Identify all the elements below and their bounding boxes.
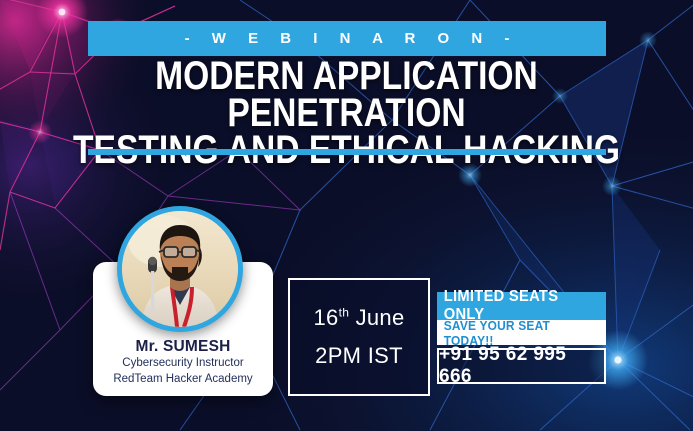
speaker-role: Cybersecurity Instructor xyxy=(93,357,273,369)
save-seat-text: SAVE YOUR SEAT TODAY!! xyxy=(444,318,599,348)
avatar xyxy=(122,211,238,327)
speaker-name: Mr. SUMESH xyxy=(93,338,273,356)
event-day: 16 xyxy=(313,305,338,330)
speaker-photo-ring xyxy=(117,206,243,332)
contact-phone-number: +91 95 62 995 666 xyxy=(439,344,604,388)
event-month: June xyxy=(356,305,405,330)
event-date-box: 16th June 2PM IST xyxy=(288,278,430,396)
webinar-kicker-bar: - W E B I N A R O N - xyxy=(88,21,606,56)
event-day-suffix: th xyxy=(339,306,350,320)
limited-seats-banner: LIMITED SEATS ONLY xyxy=(437,292,606,320)
title-line-1: MODERN APPLICATION PENETRATION xyxy=(55,58,637,132)
speaker-portrait-illustration xyxy=(122,211,238,327)
event-date: 16th June xyxy=(313,305,404,331)
cta-block: LIMITED SEATS ONLY SAVE YOUR SEAT TODAY!… xyxy=(437,292,606,384)
event-time: 2PM IST xyxy=(315,343,403,369)
title-underline-rule xyxy=(88,149,606,155)
contact-phone-box[interactable]: +91 95 62 995 666 xyxy=(437,348,606,384)
speaker-organization: RedTeam Hacker Academy xyxy=(93,373,273,385)
save-seat-banner[interactable]: SAVE YOUR SEAT TODAY!! xyxy=(437,320,606,345)
webinar-poster: - W E B I N A R O N - MODERN APPLICATION… xyxy=(0,0,693,431)
webinar-kicker-text: - W E B I N A R O N - xyxy=(176,30,519,47)
